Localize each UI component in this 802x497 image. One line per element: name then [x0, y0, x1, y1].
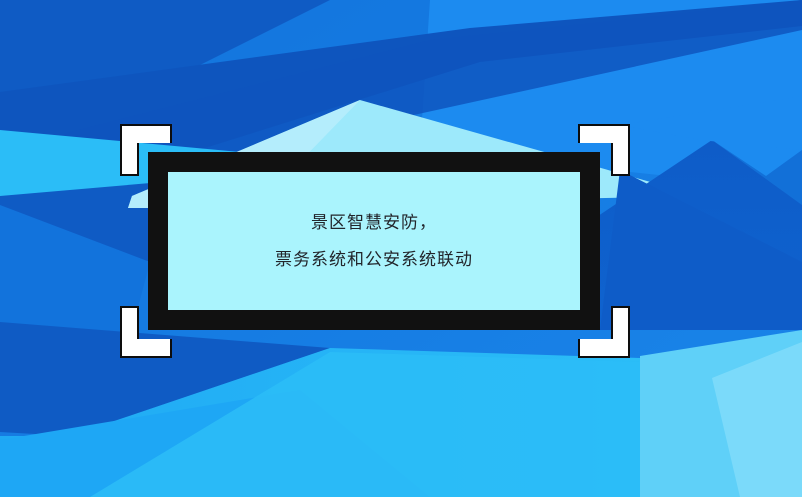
bracket-arm-horizontal: [578, 124, 630, 143]
headline-card-panel: 景区智慧安防， 票务系统和公安系统联动: [168, 172, 580, 310]
corner-bracket-bottom-left-icon: [120, 306, 172, 358]
headline-line-1: 景区智慧安防，: [311, 214, 437, 231]
bracket-arm-horizontal: [120, 124, 172, 143]
bracket-arm-horizontal: [120, 339, 172, 358]
headline-line-2: 票务系统和公安系统联动: [275, 251, 473, 268]
corner-bracket-bottom-right-icon: [578, 306, 630, 358]
banner-canvas: 景区智慧安防， 票务系统和公安系统联动: [0, 0, 802, 497]
bracket-arm-horizontal: [578, 339, 630, 358]
headline-card-frame: 景区智慧安防， 票务系统和公安系统联动: [148, 152, 600, 330]
